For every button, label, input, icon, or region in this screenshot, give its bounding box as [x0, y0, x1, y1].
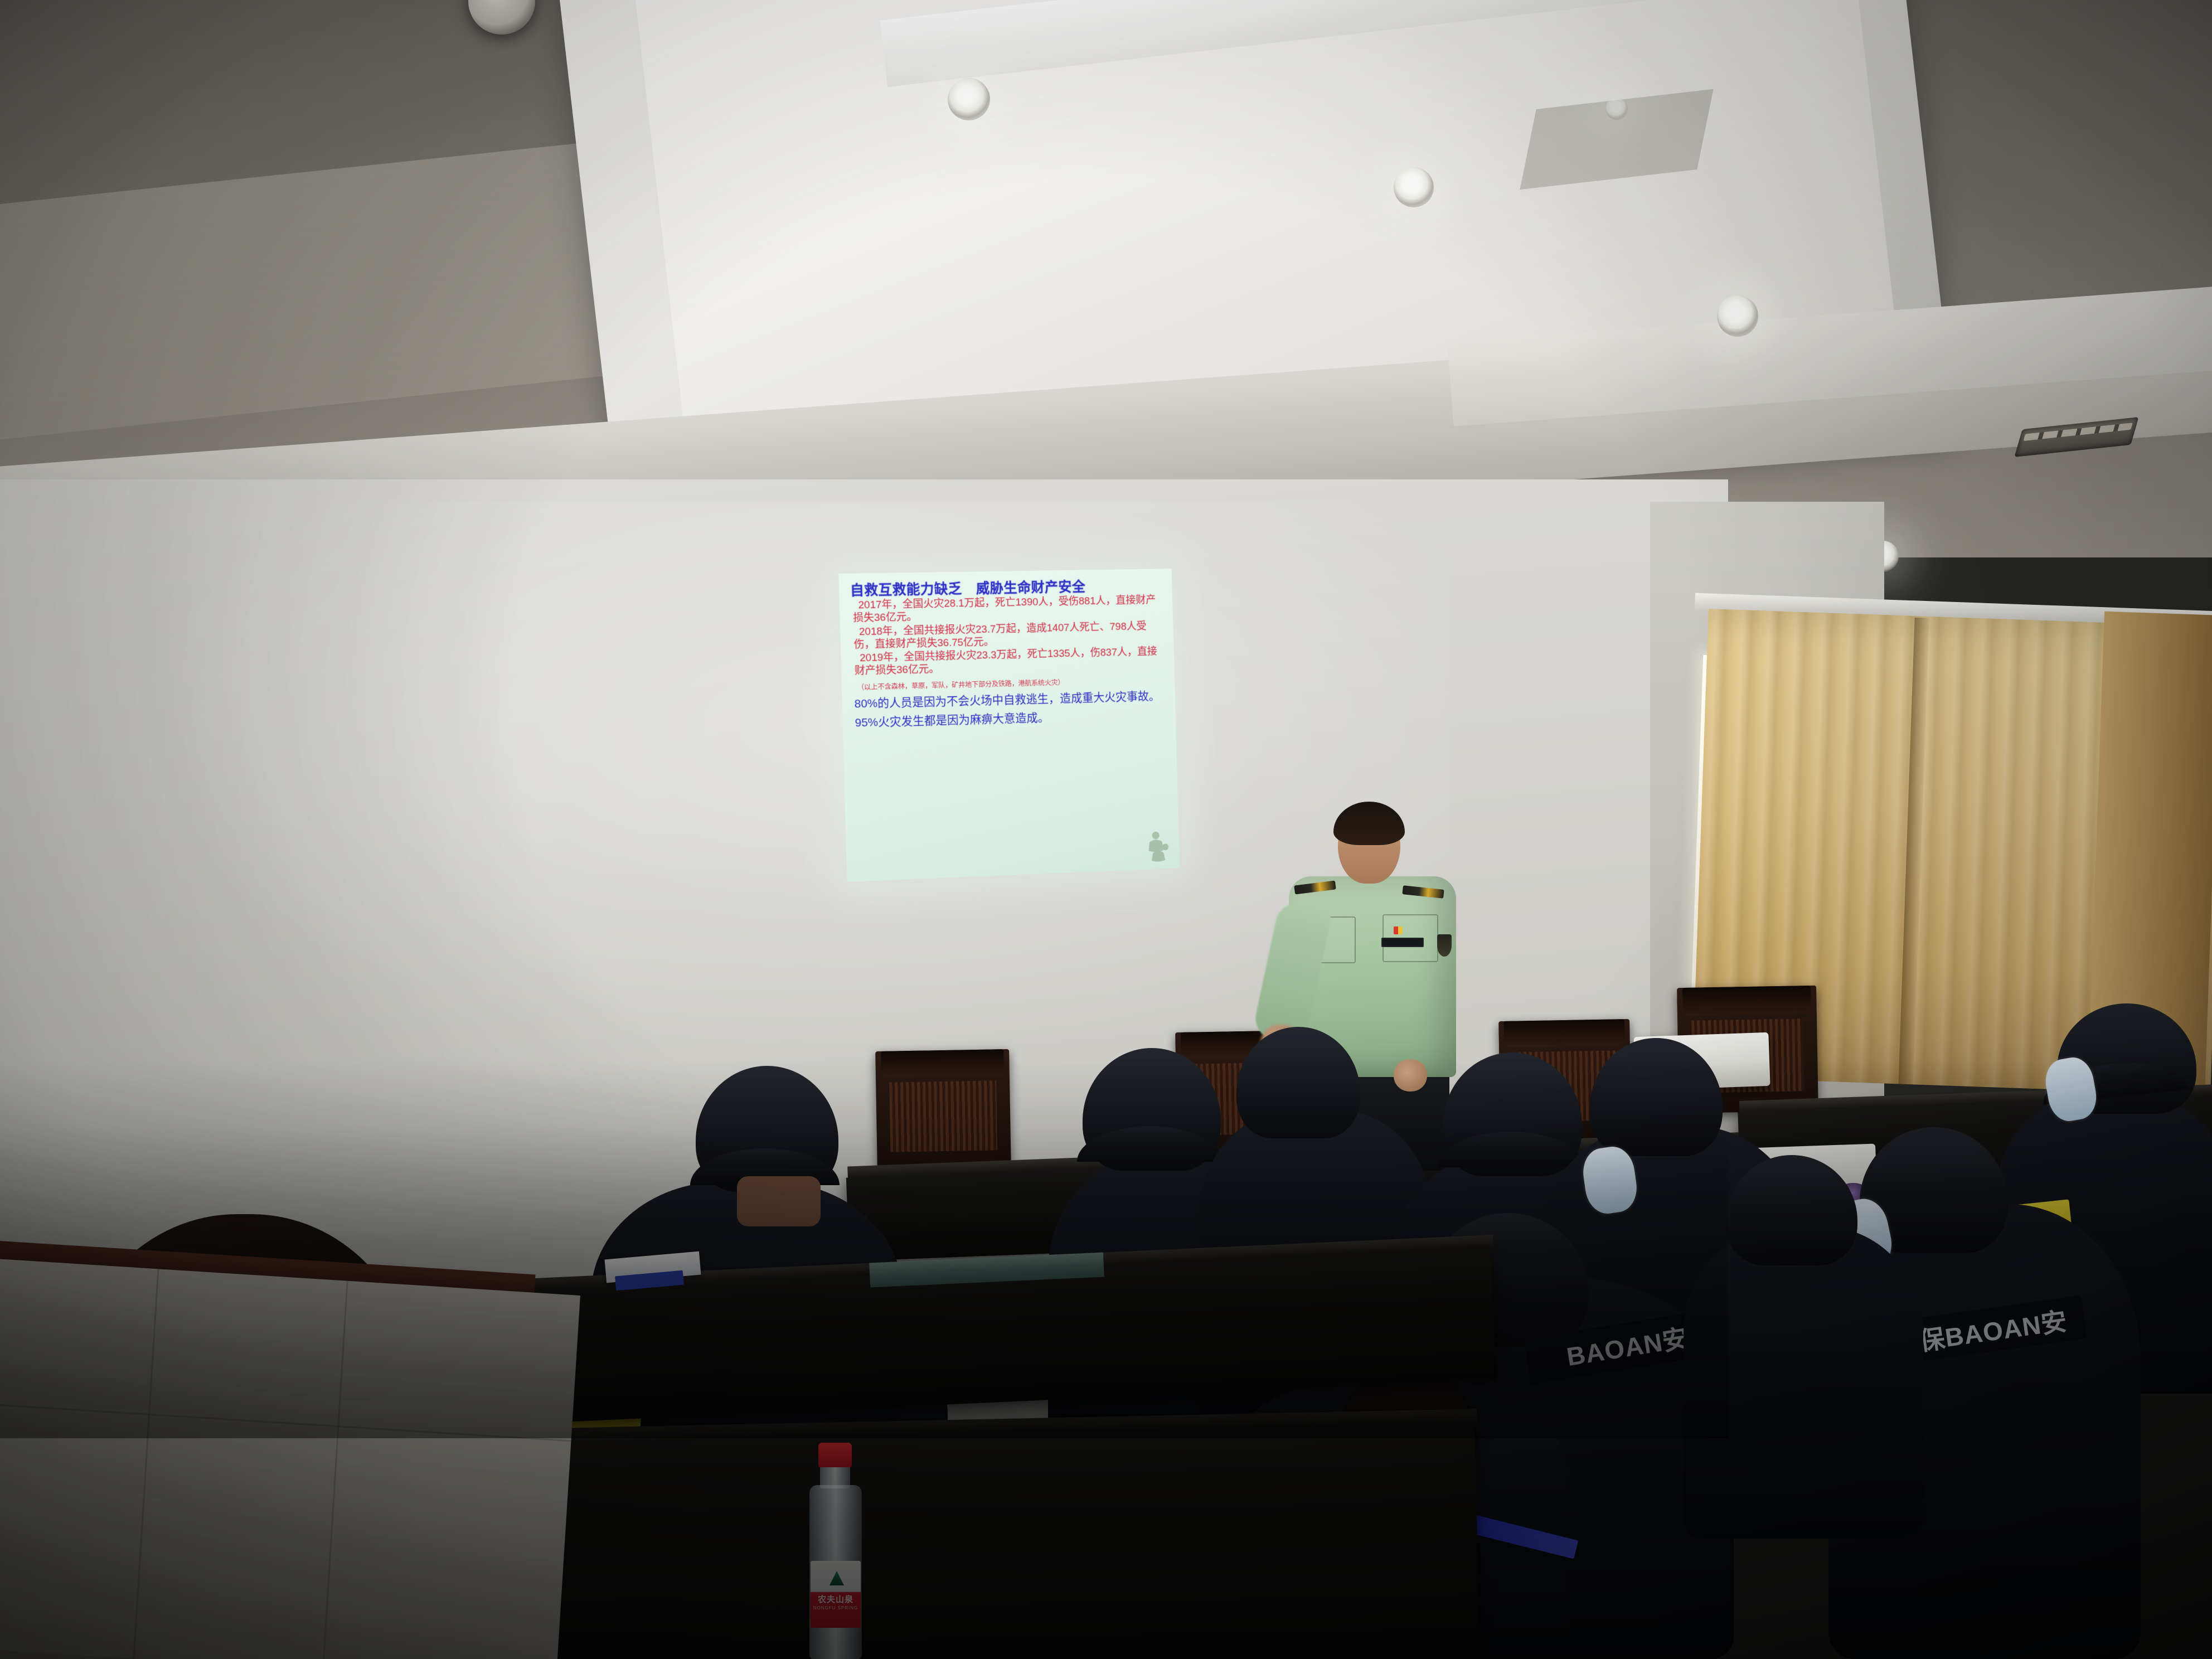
slide-highlight-2: 95%火灾发生都是因为麻痹大意造成。	[855, 709, 1165, 730]
slide-title-right: 威胁生命财产安全	[976, 579, 1086, 596]
ceiling-downlight	[1605, 98, 1628, 120]
slide-highlight-1: 80%的人员是因为不会火场中自救逃生，造成重大火灾事故。	[854, 690, 1165, 711]
chair-top-rail	[881, 1049, 1005, 1078]
bottle-logo-icon	[829, 1571, 844, 1585]
desk-row-near	[477, 1422, 1479, 1659]
presenter-hand-resting	[1394, 1059, 1427, 1092]
photo-scene: 自救互救能力缺乏威胁生命财产安全 2017年，全国火灾28.1万起，死亡1390…	[0, 0, 2212, 1659]
wall-light-glow	[111, 502, 1449, 1059]
projection-screen: 自救互救能力缺乏威胁生命财产安全 2017年，全国火灾28.1万起，死亡1390…	[838, 569, 1180, 882]
slide-watermark-icon	[1144, 828, 1172, 863]
chair-top-rail	[1682, 986, 1811, 1016]
presenter-nametag	[1381, 938, 1424, 947]
bottle-brand-en: NONGFU SPRING	[811, 1605, 861, 1611]
bottle-brand-cn: 农夫山泉	[811, 1593, 861, 1605]
room-shadow	[0, 1126, 1728, 1438]
slide-title-left: 自救互救能力缺乏	[850, 581, 962, 599]
slide-surface: 自救互救能力缺乏威胁生命财产安全 2017年，全国火灾28.1万起，死亡1390…	[838, 569, 1180, 882]
ceiling-downlight	[1394, 167, 1434, 207]
water-bottle[interactable]: 农夫山泉 NONGFU SPRING	[803, 1443, 869, 1659]
presenter-badge-icon	[1394, 926, 1403, 934]
slide-footnote: （以上不含森林，草原，军队，矿井地下部分及铁路，港航系统火灾）	[857, 674, 1165, 692]
chair-top-rail	[1504, 1019, 1625, 1047]
presenter-shoulder-patch-icon	[1437, 934, 1452, 957]
ceiling-downlight	[1717, 295, 1758, 337]
bottle-cap[interactable]	[818, 1443, 852, 1467]
ceiling-downlight	[948, 78, 990, 120]
bottle-label: 农夫山泉 NONGFU SPRING	[811, 1561, 861, 1628]
bottle-neck	[820, 1466, 850, 1488]
